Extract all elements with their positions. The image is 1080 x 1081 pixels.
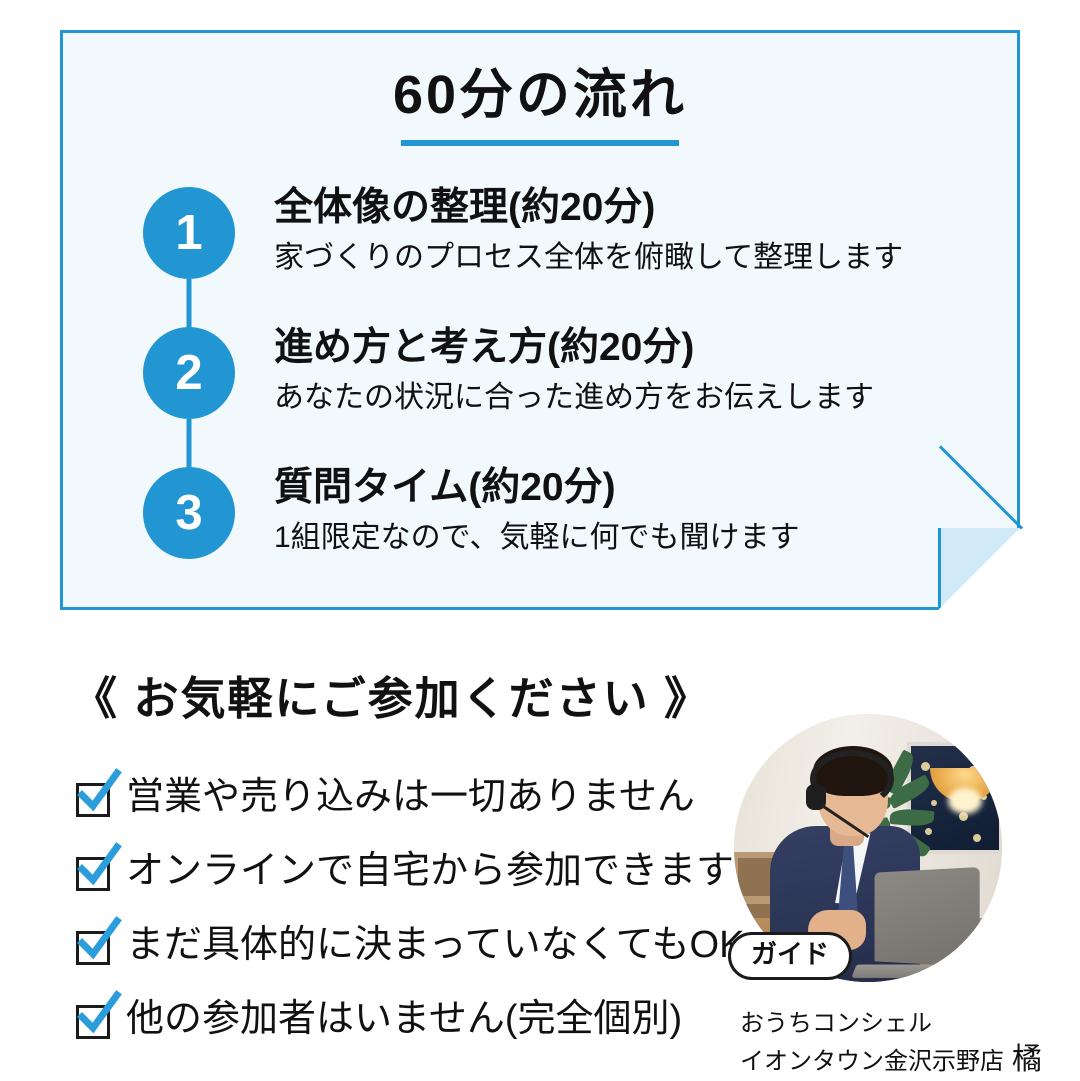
step-item: 1 全体像の整理(約20分) 家づくりのプロセス全体を俯瞰して整理します	[143, 182, 983, 322]
checklist: 営業や売り込みは一切ありません オンラインで自宅から参加できます まだ具体的に決…	[76, 762, 716, 1058]
step-heading: 進め方と考え方(約20分)	[274, 324, 874, 373]
step-item: 2 進め方と考え方(約20分) あなたの状況に合った進め方をお伝えします	[143, 322, 983, 462]
step-marker: 2	[143, 327, 235, 419]
step-body: 質問タイム(約20分) 1組限定なので、気軽に何でも聞けます	[235, 462, 799, 558]
photo-lamp-glow	[948, 788, 982, 814]
checkmark-icon	[76, 931, 110, 965]
checkmark-icon	[76, 857, 110, 891]
list-item: オンラインで自宅から参加できます	[76, 836, 716, 908]
checklist-label: 他の参加者はいません(完全個別)	[126, 997, 682, 1043]
step-item: 3 質問タイム(約20分) 1組限定なので、気軽に何でも聞けます	[143, 462, 983, 602]
checklist-label: オンラインで自宅から参加できます	[126, 849, 734, 895]
step-body: 進め方と考え方(約20分) あなたの状況に合った進め方をお伝えします	[235, 322, 874, 418]
guide-caption: おうちコンシェル イオンタウン金沢示野店橘	[740, 1008, 1022, 1081]
list-item: 他の参加者はいません(完全個別)	[76, 984, 716, 1056]
guide-block: ガイド おうちコンシェル イオンタウン金沢示野店橘	[734, 714, 1022, 1081]
guide-store: イオンタウン金沢示野店	[740, 1048, 1004, 1075]
step-list: 1 全体像の整理(約20分) 家づくりのプロセス全体を俯瞰して整理します 2 進…	[143, 182, 983, 602]
flow-card: 60分の流れ 1 全体像の整理(約20分) 家づくりのプロセス全体を俯瞰して整理…	[60, 30, 1020, 610]
step-connector-line	[187, 279, 192, 334]
step-marker: 3	[143, 467, 235, 559]
list-item: まだ具体的に決まっていなくてもOK	[76, 910, 716, 982]
step-description: 1組限定なので、気軽に何でも聞けます	[274, 518, 799, 559]
step-number-badge: 1	[143, 187, 235, 279]
step-heading: 全体像の整理(約20分)	[274, 184, 903, 233]
page-title: 60分の流れ	[60, 68, 1020, 122]
guide-name: 橘	[1012, 1043, 1042, 1076]
checklist-label: まだ具体的に決まっていなくてもOK	[126, 923, 744, 969]
step-marker: 1	[143, 187, 235, 279]
invite-heading: 《 お気軽にご参加ください 》	[72, 662, 711, 727]
step-heading: 質問タイム(約20分)	[274, 464, 799, 513]
laptop-icon	[875, 867, 980, 967]
step-number-badge: 2	[143, 327, 235, 419]
laptop-base	[851, 964, 988, 978]
guide-store-line: イオンタウン金沢示野店橘	[740, 1040, 1022, 1081]
checkmark-icon	[76, 783, 110, 817]
step-body: 全体像の整理(約20分) 家づくりのプロセス全体を俯瞰して整理します	[235, 182, 903, 278]
title-underline	[401, 140, 679, 146]
step-connector-line	[187, 419, 192, 474]
step-description: あなたの状況に合った進め方をお伝えします	[274, 378, 874, 419]
checkmark-icon	[76, 1005, 110, 1039]
list-item: 営業や売り込みは一切ありません	[76, 762, 716, 834]
guide-org: おうちコンシェル	[740, 1008, 1022, 1040]
checklist-label: 営業や売り込みは一切ありません	[126, 775, 695, 821]
step-number-badge: 3	[143, 467, 235, 559]
step-description: 家づくりのプロセス全体を俯瞰して整理します	[274, 238, 903, 279]
guide-badge: ガイド	[728, 932, 852, 980]
